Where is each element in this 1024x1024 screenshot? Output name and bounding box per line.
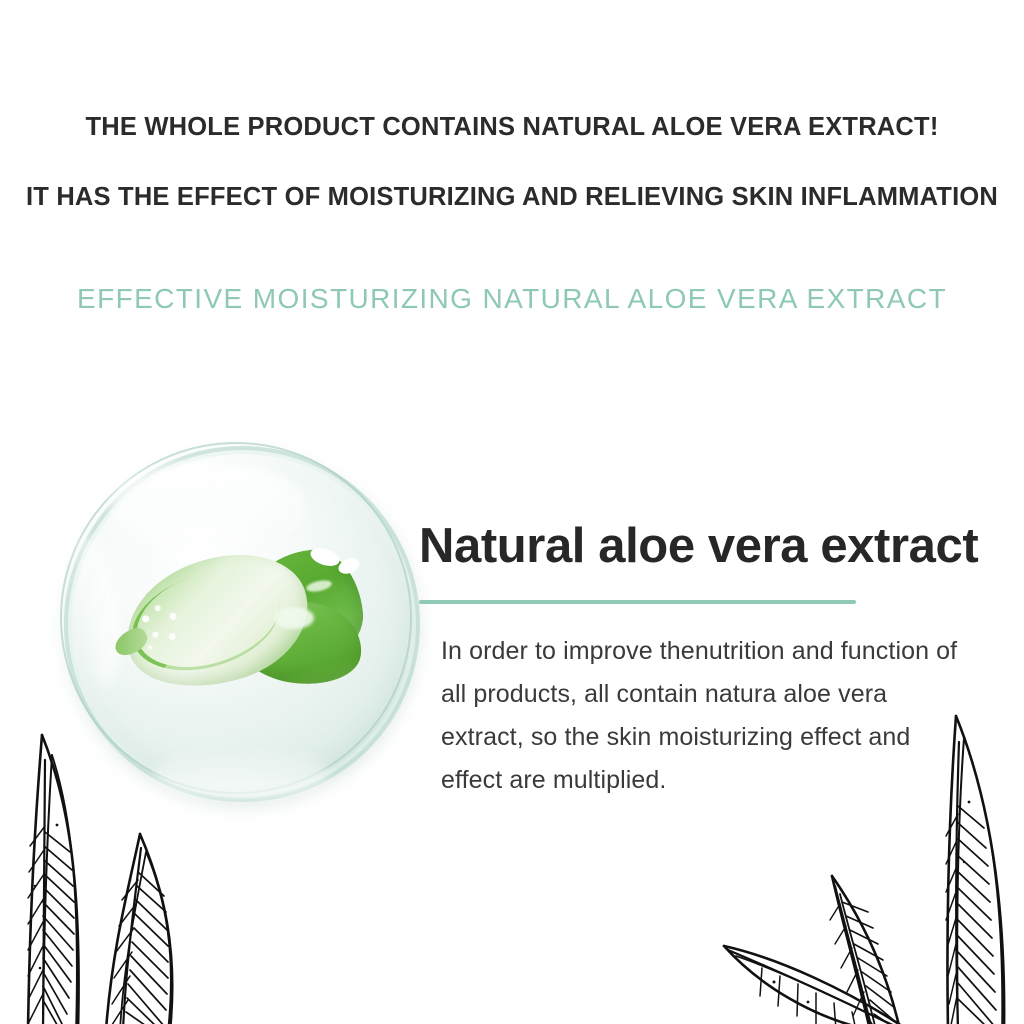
leaf-illustration-right bbox=[718, 690, 1024, 1024]
aloe-gel-droplet bbox=[274, 607, 314, 629]
leaf-left-svg bbox=[0, 700, 294, 1024]
aloe-vera-product-banner: THE WHOLE PRODUCT CONTAINS NATURAL ALOE … bbox=[0, 0, 1024, 1024]
leaf-illustration-left bbox=[0, 700, 294, 1024]
leaf-right-svg bbox=[718, 690, 1024, 1024]
headline-line-1: THE WHOLE PRODUCT CONTAINS NATURAL ALOE … bbox=[0, 113, 1024, 142]
aloe-slices-group bbox=[124, 545, 362, 695]
subtitle: EFFECTIVE MOISTURIZING NATURAL ALOE VERA… bbox=[0, 283, 1024, 315]
petri-dish-highlight-top bbox=[110, 462, 305, 554]
feature-divider bbox=[419, 600, 856, 604]
headline-line-2: IT HAS THE EFFECT OF MOISTURIZING AND RE… bbox=[0, 183, 1024, 212]
feature-title: Natural aloe vera extract bbox=[419, 518, 978, 574]
